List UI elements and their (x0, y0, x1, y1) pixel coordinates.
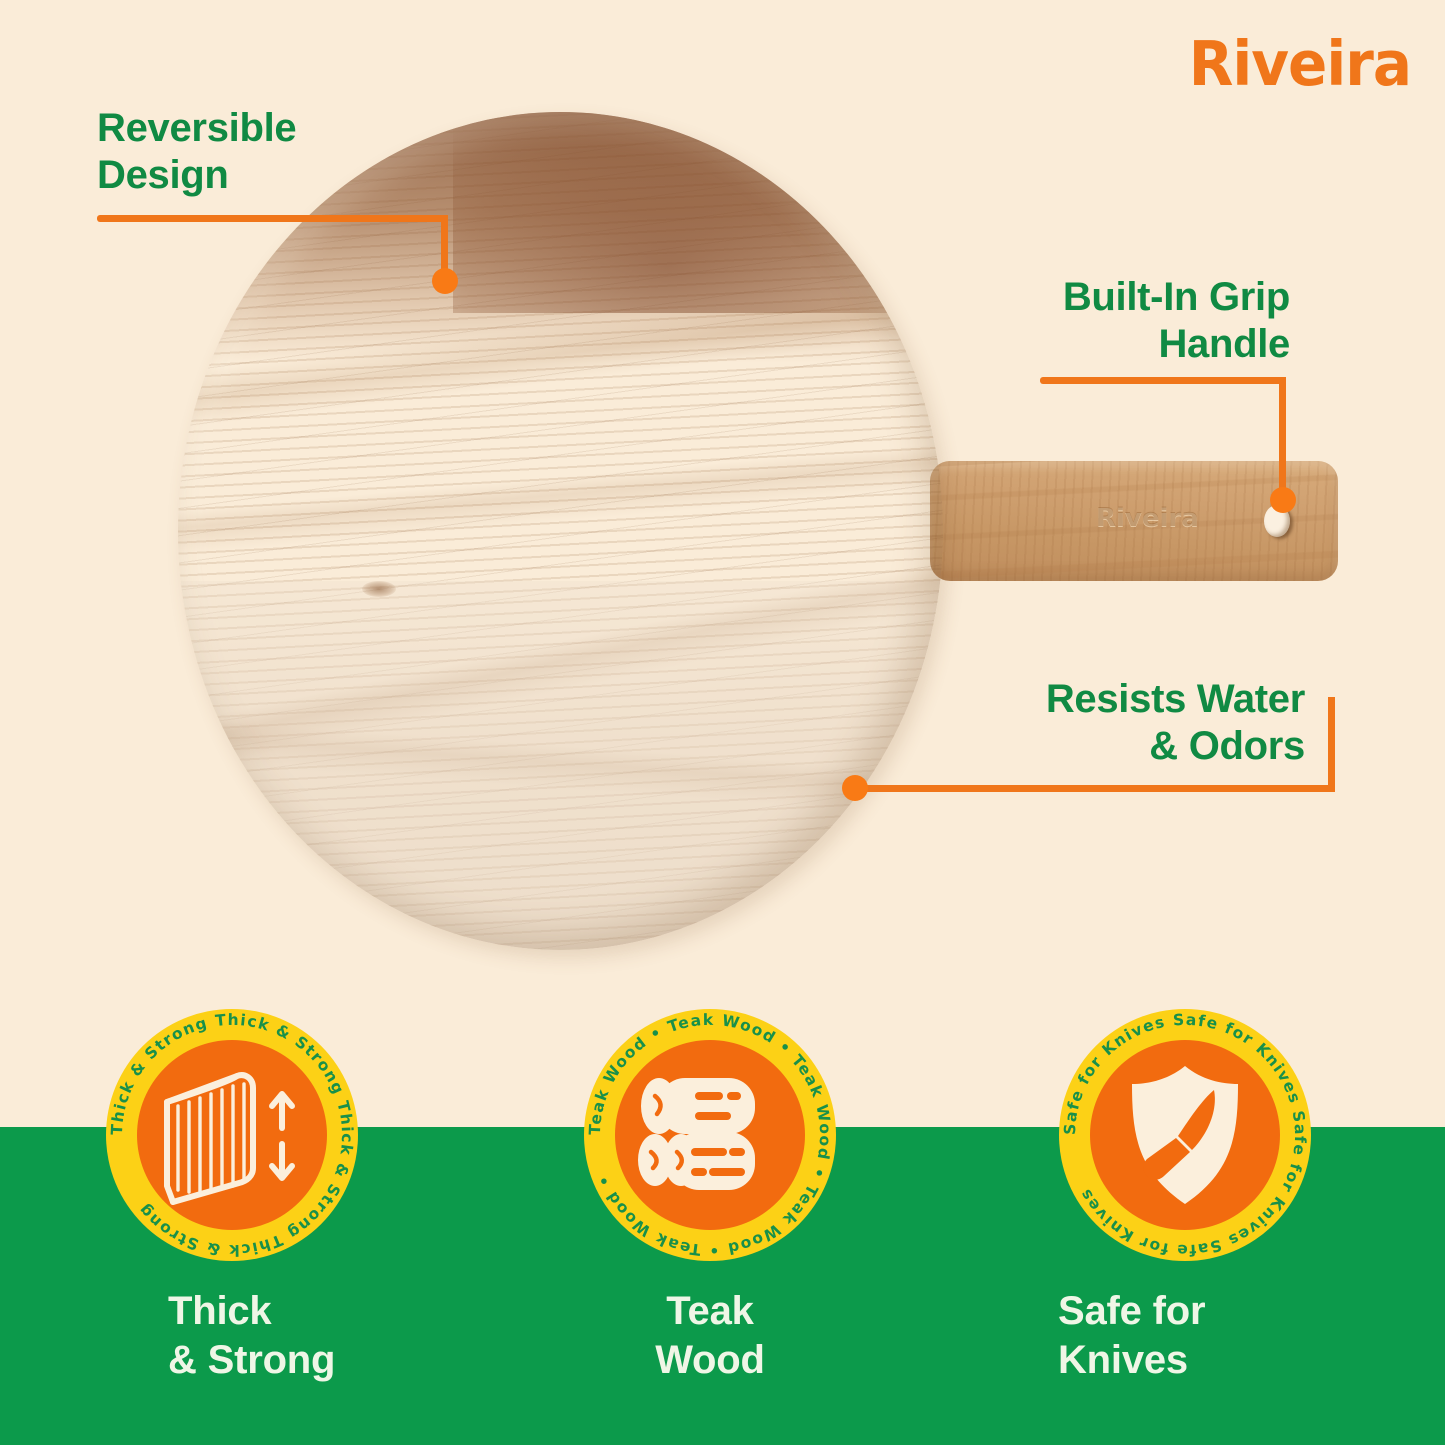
infographic-canvas: Riveira Riveira Reversible Design Built-… (0, 0, 1445, 1445)
board-edge-shading (178, 112, 943, 950)
round-board-surface (178, 112, 943, 950)
badge-safe-for-knives: Safe for Knives Safe for Knives Safe for… (1059, 1009, 1311, 1261)
badge-label-safe-for-knives: Safe for Knives (1058, 1287, 1338, 1385)
callout-line-1: Resists Water (960, 676, 1305, 723)
callout-line-1: Reversible (97, 105, 296, 152)
badge-label-line-2: Wood (580, 1336, 840, 1385)
callout-resists-point-marker (842, 775, 868, 801)
badge-label-line-2: & Strong (168, 1336, 428, 1385)
callout-reversible-point-marker (432, 268, 458, 294)
wood-slab-thickness-icon (137, 1040, 327, 1230)
callout-resists-leader-horizontal (862, 785, 1335, 792)
shield-knife-icon (1090, 1040, 1280, 1230)
callout-reversible-leader-horizontal (97, 215, 445, 222)
callout-grip-leader-horizontal (1040, 377, 1286, 384)
callout-line-2: & Odors (960, 723, 1305, 770)
badge-label-line-1: Teak (580, 1287, 840, 1336)
callout-reversible-design: Reversible Design (97, 105, 296, 199)
engraved-brand-mark: Riveira (1096, 503, 1199, 533)
badge-label-line-2: Knives (1058, 1336, 1338, 1385)
callout-line-2: Design (97, 152, 296, 199)
callout-built-in-grip-handle: Built-In Grip Handle (1000, 274, 1290, 368)
wood-logs-icon (615, 1040, 805, 1230)
callout-resists-leader-vertical (1328, 697, 1335, 792)
callout-resists-water-and-odors: Resists Water & Odors (960, 676, 1305, 770)
callout-grip-leader-vertical (1279, 377, 1286, 503)
badge-label-line-1: Safe for (1058, 1287, 1338, 1336)
callout-line-1: Built-In Grip (1000, 274, 1290, 321)
badge-teak-wood: Teak Wood • Teak Wood • Teak Wood • Teak… (584, 1009, 836, 1261)
badge-label-line-1: Thick (168, 1287, 428, 1336)
badge-thick-and-strong: Thick & Strong Thick & Strong Thick & St… (106, 1009, 358, 1261)
board-handle: Riveira (930, 461, 1338, 581)
badge-label-thick-and-strong: Thick & Strong (168, 1287, 428, 1385)
callout-line-2: Handle (1000, 321, 1290, 368)
callout-grip-point-marker (1270, 487, 1296, 513)
badge-label-teak-wood: Teak Wood (580, 1287, 840, 1385)
